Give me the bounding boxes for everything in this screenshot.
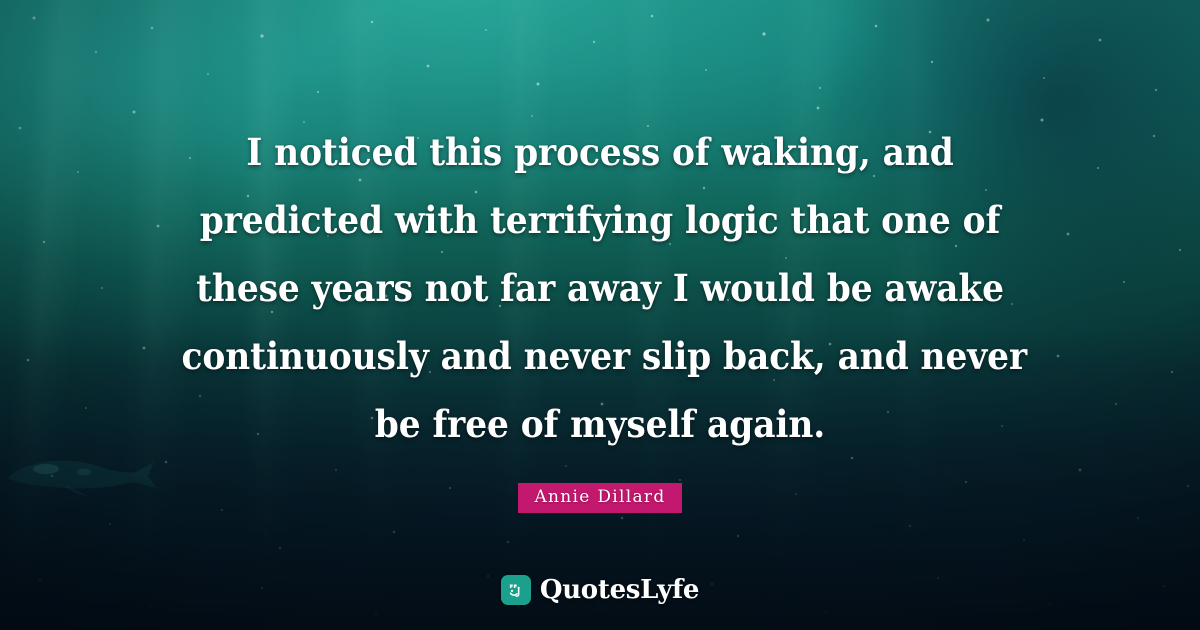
quotes-smiley-icon bbox=[501, 575, 531, 605]
quote-line: predicted with terrifying logic that one… bbox=[182, 186, 1019, 254]
quote-line: be free of myself again. bbox=[182, 390, 1019, 458]
quote-line: these years not far away I would be awak… bbox=[182, 254, 1019, 322]
quote-line: I noticed this process of waking, and bbox=[182, 118, 1019, 186]
quote-text: I noticed this process of waking, and pr… bbox=[150, 118, 1050, 458]
card-content: I noticed this process of waking, and pr… bbox=[0, 0, 1200, 630]
brand-logo[interactable]: QuotesLyfe bbox=[501, 575, 699, 605]
brand-name: QuotesLyfe bbox=[540, 575, 699, 605]
quote-line: continuously and never slip back, and ne… bbox=[182, 322, 1019, 390]
author-badge[interactable]: Annie Dillard bbox=[518, 483, 681, 513]
quote-card: I noticed this process of waking, and pr… bbox=[0, 0, 1200, 630]
